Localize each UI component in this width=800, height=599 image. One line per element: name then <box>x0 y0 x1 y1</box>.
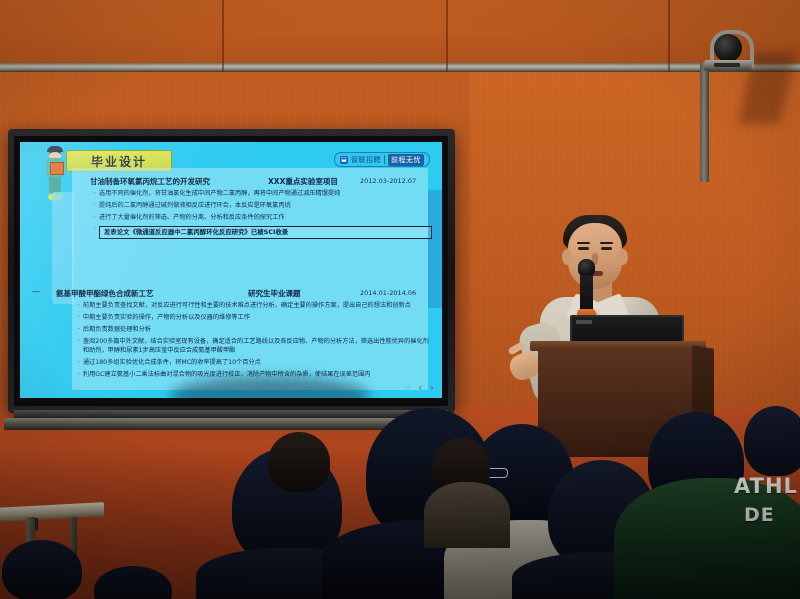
brand-separator <box>384 155 385 164</box>
bullet-dot-icon: · <box>78 371 80 380</box>
upper-wall <box>0 0 800 72</box>
section-2-date: 2014.01-2014.06 <box>360 289 416 297</box>
section-1-bullets: · 选用不同的催化剂，将甘油氯化生成中间产物二氯丙醇，再将中间产物通过减压精馏提… <box>94 190 432 242</box>
section-1-title: 甘油制备环氧氯丙烷工艺的开发研究 <box>90 176 210 187</box>
wall-seam <box>446 0 448 72</box>
bullet-dot-icon: · <box>94 214 96 223</box>
link-icon: ⬓ <box>340 156 348 164</box>
jersey-text-line1: ATHL <box>734 474 798 498</box>
bullet-text: 中期主要负责实验的操作，产物的分析以及仪器的维修等工作 <box>83 314 430 323</box>
slide-navigation[interactable]: ☞ ‹ › <box>405 381 434 394</box>
bullet-dot-icon: · <box>94 226 96 239</box>
section-2-bullets: · 前期主要负责查找文献，对反应进行可行性和主要的技术难点进行分析，确定主要的操… <box>78 302 430 383</box>
bullet-dot-icon: · <box>78 359 80 368</box>
presenter-ear-left <box>562 249 572 265</box>
next-slide-button[interactable]: › <box>430 381 434 394</box>
section-2-dash: — <box>32 287 40 296</box>
camera-lens-icon <box>714 34 742 62</box>
brand-right-text: 前程无忧 <box>388 154 424 166</box>
bullet-text: 选用不同的催化剂，将甘油氯化生成中间产物二氯丙醇，再将中间产物通过减压精馏提纯 <box>99 190 432 199</box>
slide-title: 毕业设计 <box>91 153 147 170</box>
list-item: · 后期负责数据处理和分析 <box>78 326 430 335</box>
jersey-text-line2: DE <box>744 504 775 526</box>
section-2-title: 氨基甲酸甲酯绿色合成新工艺 <box>56 288 154 299</box>
presenter-eye-left <box>578 247 589 250</box>
list-item: · 提纯后的二氯丙醇通过碱剂做液相反应进行环合，本反应是环氧氯丙烷 <box>94 202 432 211</box>
prev-slide-button[interactable]: ‹ <box>418 381 422 394</box>
bullet-text-boxed: 发表论文《微通道反应器中二氯丙醇环化反应研究》已被SCI收录 <box>99 226 432 239</box>
bullet-text: 提纯后的二氯丙醇通过碱剂做液相反应进行环合，本反应是环氧氯丙烷 <box>99 202 432 211</box>
presenter-eye-right <box>601 247 612 250</box>
pointer-icon[interactable]: ☞ <box>405 384 411 392</box>
wall-seam <box>222 0 224 72</box>
presenter-brow-right <box>600 242 613 244</box>
list-item: · 查阅200多篇中外文献，结合实验室现有设备，确定适合的工艺路线以及各反应物、… <box>78 338 430 355</box>
audience-shoulders <box>424 482 510 548</box>
section-1-subtitle: XXX重点实验室项目 <box>268 176 338 187</box>
section-1-date: 2012.03-2012.07 <box>360 177 416 185</box>
brand-left-text: 智联招聘 <box>351 155 381 165</box>
audience-head <box>2 540 82 599</box>
list-item: · 进行了大量催化剂的筛选、产物的分离、分析和反应条件的探究工作 <box>94 214 432 223</box>
bullet-dot-icon: · <box>78 302 80 311</box>
bullet-dot-icon: · <box>94 190 96 199</box>
list-item: · 选用不同的催化剂，将甘油氯化生成中间产物二氯丙醇，再将中间产物通过减压精馏提… <box>94 190 432 199</box>
laptop-logo <box>576 320 592 324</box>
bullet-dot-icon: · <box>78 326 80 335</box>
bullet-text: 进行了大量催化剂的筛选、产物的分离、分析和反应条件的探究工作 <box>99 214 432 223</box>
presenter-brow-left <box>577 242 590 244</box>
section-2-subtitle: 研究生毕业课题 <box>248 288 301 299</box>
bullet-dot-icon: · <box>78 314 80 323</box>
bullet-dot-icon: · <box>78 338 80 355</box>
list-item: · 中期主要负责实验的操作，产物的分析以及仪器的维修等工作 <box>78 314 430 323</box>
bullet-dot-icon: · <box>94 202 96 211</box>
camera-label <box>714 63 740 67</box>
presentation-slide[interactable]: 毕业设计 ⬓ 智联招聘 前程无忧 甘油制备环氧氯丙烷工艺的开发研究 XXX重点实… <box>20 142 442 398</box>
list-item-highlighted: · 发表论文《微通道反应器中二氯丙醇环化反应研究》已被SCI收录 <box>94 226 432 239</box>
audience-head <box>268 432 330 492</box>
presenter-ear-right <box>618 249 628 265</box>
wall-seam <box>668 0 670 72</box>
bullet-text: 前期主要负责查找文献，对反应进行可行性和主要的技术难点进行分析，确定主要的操作方… <box>83 302 430 311</box>
bullet-text: 查阅200多篇中外文献，结合实验室现有设备，确定适合的工艺路线以及各反应物、产物… <box>83 338 430 355</box>
bullet-text: 通过180多组实验优化合成条件，将MC的收率提高了10个百分点 <box>83 359 430 368</box>
microphone-head <box>578 259 595 275</box>
bullet-text: 后期负责数据处理和分析 <box>83 326 430 335</box>
camera-arm <box>700 62 709 182</box>
photo-scene: 毕业设计 ⬓ 智联招聘 前程无忧 甘油制备环氧氯丙烷工艺的开发研究 XXX重点实… <box>0 0 800 599</box>
list-item: · 前期主要负责查找文献，对反应进行可行性和主要的技术难点进行分析，确定主要的操… <box>78 302 430 311</box>
audience-head <box>744 406 800 476</box>
slide-brand-badge: ⬓ 智联招聘 前程无忧 <box>334 152 430 167</box>
list-item: · 通过180多组实验优化合成条件，将MC的收率提高了10个百分点 <box>78 359 430 368</box>
